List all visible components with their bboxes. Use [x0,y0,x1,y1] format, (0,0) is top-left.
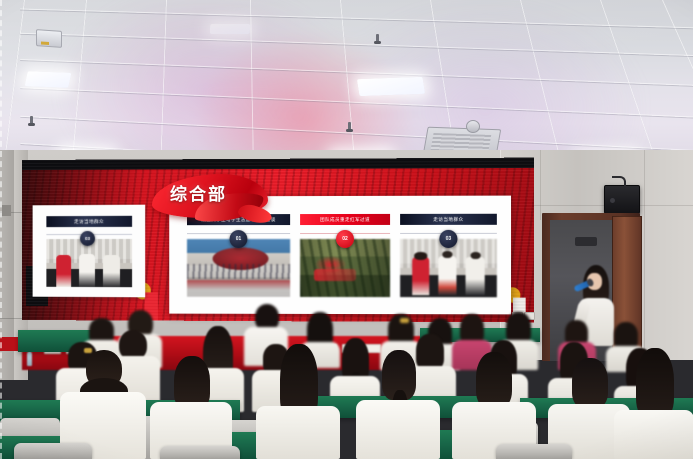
slide-title: 综合部 [170,180,270,205]
door-top-device [575,237,597,246]
slide-badge-3: 03 [439,230,457,248]
chair [160,446,240,459]
audience-member [256,344,340,459]
conference-room-photo: 走访当地群众 03 院区大学生与学生志愿者开展座谈 01 团队成员重走红军过道 [0,0,693,459]
slide-caption-3: 走访当地群众 [400,214,497,225]
audience-area [0,300,693,459]
chair [496,444,572,459]
wall-seam [540,150,541,220]
left-panel-caption: 走访当地群众 [46,216,132,227]
ceiling-tile-grid [0,0,693,172]
smoke-detector-icon [466,120,480,133]
sprinkler-head [348,122,351,131]
slide-badge-2: 02 [336,230,354,248]
slide-caption-2: 团队成员重走红军过道 [300,214,390,225]
sprinkler-head [376,34,379,43]
slide-badge-1: 01 [230,230,248,248]
audience-member [150,356,232,459]
projector-mount [36,29,62,48]
ceiling-light [357,77,425,96]
sprinkler-head [30,116,33,125]
slide-title-ribbon: 综合部 [142,166,272,228]
left-panel-badge: 03 [80,231,95,246]
audience-member [356,350,440,459]
speaker-bracket [612,176,626,186]
chair [14,443,92,459]
ribbon-tail [237,202,274,226]
wall-speaker [604,185,640,214]
left-panel-photo [46,239,132,287]
ceiling-light [210,24,251,34]
column-fixture [2,205,11,216]
led-left-slide-panel: 走访当地群众 03 [33,205,146,298]
ceiling-light [25,71,72,88]
audience-member [614,348,693,459]
audience-member [452,352,536,459]
ceiling [0,0,693,172]
